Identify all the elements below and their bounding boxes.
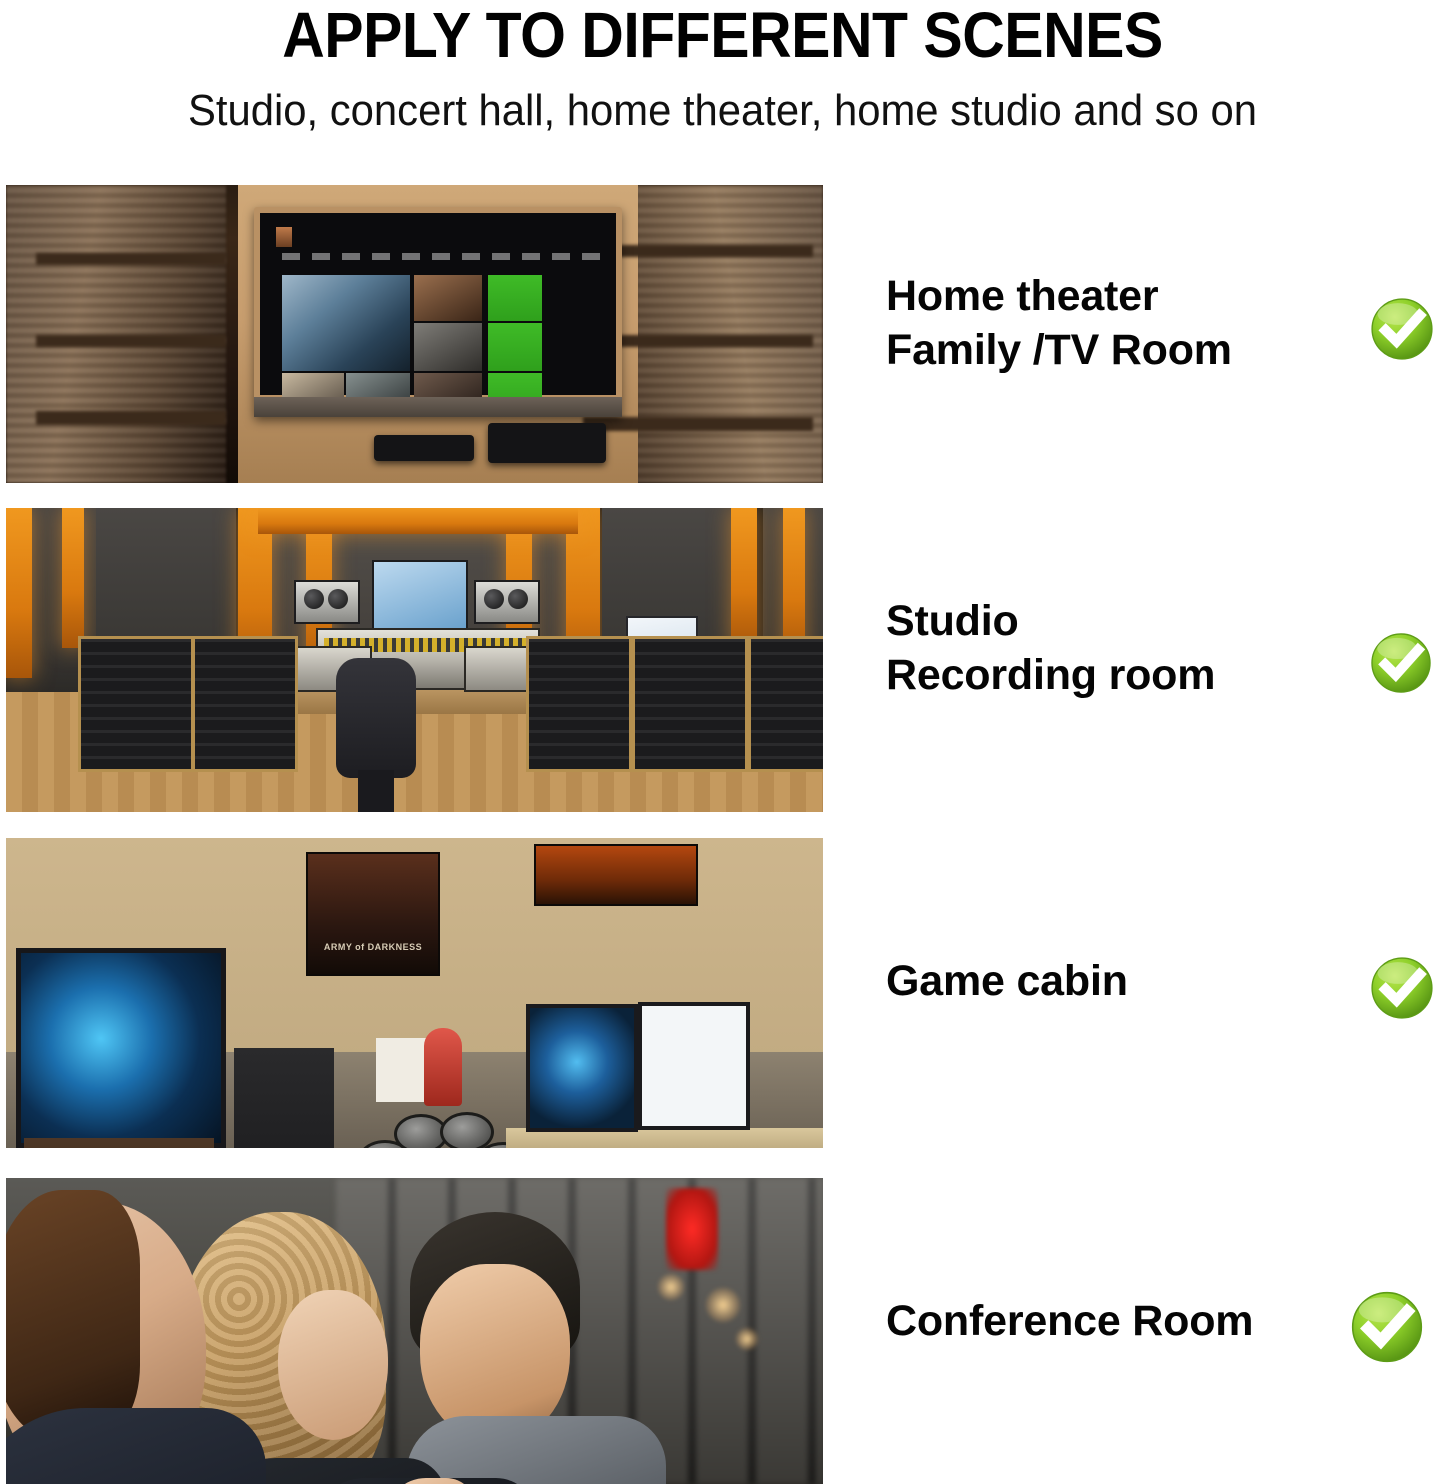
scene-row-studio: Studio Recording room xyxy=(0,508,1445,814)
scene-photo-game-cabin xyxy=(6,838,823,1148)
scene-label-conference-room: Conference Room xyxy=(886,1294,1346,1348)
page-title: APPLY TO DIFFERENT SCENES xyxy=(58,2,1387,68)
scene-label-line: Recording room xyxy=(886,648,1346,702)
scene-label-studio: Studio Recording room xyxy=(886,594,1346,702)
scene-photo-home-theater xyxy=(6,185,823,483)
green-check-icon xyxy=(1368,630,1434,696)
header: APPLY TO DIFFERENT SCENES Studio, concer… xyxy=(0,0,1445,160)
green-check-icon xyxy=(1368,295,1436,363)
scene-label-game-cabin: Game cabin xyxy=(886,954,1346,1008)
scene-photo-studio xyxy=(6,508,823,812)
scene-label-line: Family /TV Room xyxy=(886,323,1346,377)
green-check-icon xyxy=(1368,954,1436,1022)
scene-label-line: Game cabin xyxy=(886,954,1346,1008)
scene-row-game-cabin: Game cabin xyxy=(0,838,1445,1150)
page-subtitle: Studio, concert hall, home theater, home… xyxy=(36,84,1409,138)
scene-row-home-theater: Home theater Family /TV Room xyxy=(0,185,1445,485)
scene-label-line: Conference Room xyxy=(886,1294,1346,1348)
scene-label-line: Home theater xyxy=(886,269,1346,323)
scene-label-home-theater: Home theater Family /TV Room xyxy=(886,269,1346,377)
scene-photo-conference-room xyxy=(6,1178,823,1484)
scene-label-line: Studio xyxy=(886,594,1346,648)
green-check-icon xyxy=(1348,1288,1426,1366)
scene-row-conference-room: Conference Room xyxy=(0,1178,1445,1484)
